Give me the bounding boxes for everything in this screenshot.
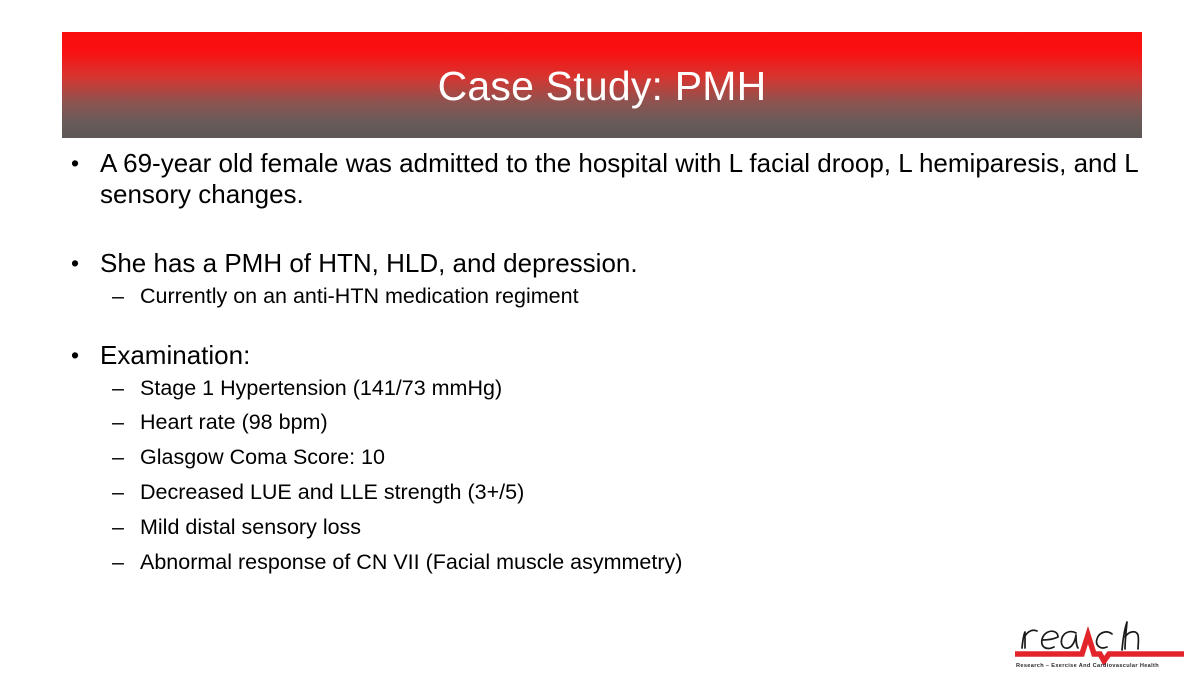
bullet-item-3: • Examination:	[62, 340, 1142, 371]
dash-marker-icon: –	[62, 545, 140, 580]
logo-tagline: Research – Exercise And Cardiovascular H…	[1016, 663, 1159, 669]
dash-marker-icon: –	[62, 405, 140, 440]
bullet-item-2: • She has a PMH of HTN, HLD, and depress…	[62, 248, 1142, 279]
dash-marker-icon: –	[62, 475, 140, 510]
bullet-marker-icon: •	[62, 148, 100, 179]
sub-bullet-item-3: – Heart rate (98 bpm)	[62, 405, 1142, 440]
sub-bullet-item-7: – Abnormal response of CN VII (Facial mu…	[62, 545, 1142, 580]
bullet-text: A 69-year old female was admitted to the…	[100, 148, 1142, 210]
spacer	[62, 210, 1142, 248]
spacer	[62, 314, 1142, 340]
sub-bullet-text: Mild distal sensory loss	[140, 510, 1142, 545]
sub-bullet-text: Stage 1 Hypertension (141/73 mmHg)	[140, 371, 1142, 406]
sub-bullet-item-2: – Stage 1 Hypertension (141/73 mmHg)	[62, 371, 1142, 406]
slide-body: • A 69-year old female was admitted to t…	[62, 148, 1142, 580]
bullet-item-1: • A 69-year old female was admitted to t…	[62, 148, 1142, 210]
dash-marker-icon: –	[62, 510, 140, 545]
reach-logo: Research – Exercise And Cardiovascular H…	[1014, 614, 1190, 670]
sub-bullet-item-4: – Glasgow Coma Score: 10	[62, 440, 1142, 475]
sub-bullet-item-1: – Currently on an anti-HTN medication re…	[62, 279, 1142, 314]
sub-bullet-item-5: – Decreased LUE and LLE strength (3+/5)	[62, 475, 1142, 510]
dash-marker-icon: –	[62, 440, 140, 475]
bullet-text: Examination:	[100, 340, 1142, 371]
dash-marker-icon: –	[62, 279, 140, 314]
sub-bullet-text: Heart rate (98 bpm)	[140, 405, 1142, 440]
sub-bullet-text: Currently on an anti-HTN medication regi…	[140, 279, 1142, 314]
sub-bullet-item-6: – Mild distal sensory loss	[62, 510, 1142, 545]
slide-canvas: Case Study: PMH • A 69-year old female w…	[0, 0, 1200, 675]
page-title: Case Study: PMH	[438, 66, 767, 107]
sub-bullet-text: Decreased LUE and LLE strength (3+/5)	[140, 475, 1142, 510]
title-banner: Case Study: PMH	[62, 32, 1142, 138]
reach-logo-graphic: Research – Exercise And Cardiovascular H…	[1014, 614, 1190, 670]
bullet-marker-icon: •	[62, 340, 100, 371]
bullet-text: She has a PMH of HTN, HLD, and depressio…	[100, 248, 1142, 279]
sub-bullet-text: Glasgow Coma Score: 10	[140, 440, 1142, 475]
bullet-marker-icon: •	[62, 248, 100, 279]
sub-bullet-text: Abnormal response of CN VII (Facial musc…	[140, 545, 1142, 580]
dash-marker-icon: –	[62, 371, 140, 406]
